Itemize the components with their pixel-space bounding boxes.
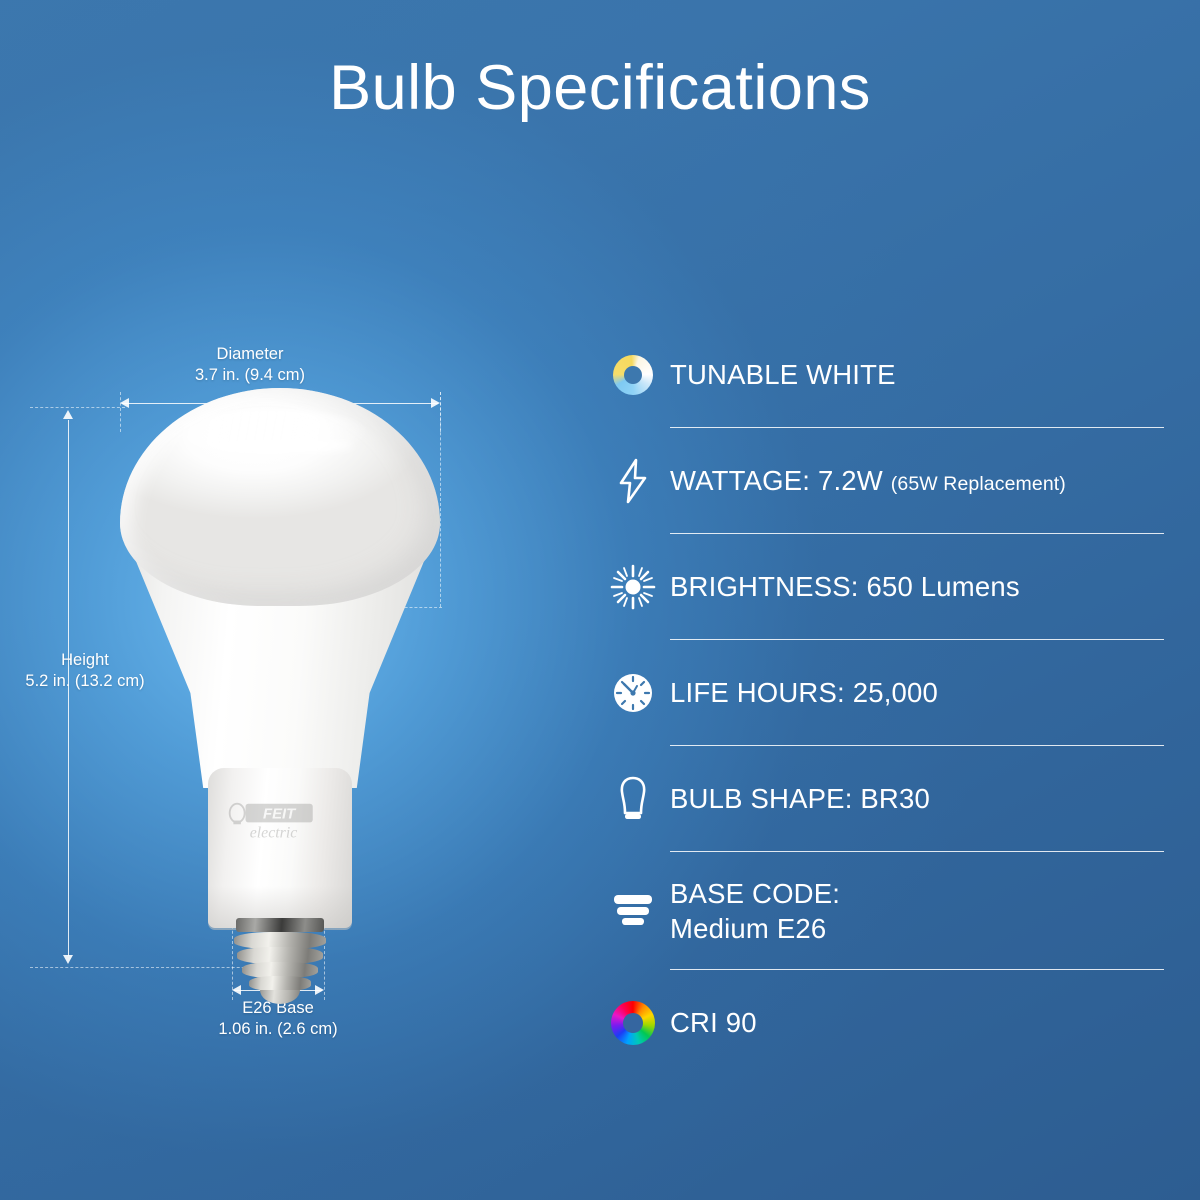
spec-row-cri: CRI 90	[596, 970, 1176, 1076]
base-thread	[249, 976, 311, 991]
lightning-bolt-icon	[596, 458, 670, 504]
spec-row-life-hours: LIFE HOURS: 25,000	[596, 640, 1176, 746]
base-tip	[260, 990, 300, 1004]
specification-graphic: Bulb Specifications Diameter 3.7 in. (9.…	[0, 0, 1200, 1200]
spec-row-brightness: BRIGHTNESS: 650 Lumens	[596, 534, 1176, 640]
spec-label: CRI 90	[670, 1005, 1176, 1040]
diameter-label-text: Diameter	[217, 345, 284, 363]
wattage-replacement: (65W Replacement)	[891, 473, 1066, 495]
br30-bulb-image: FEIT electric	[120, 388, 440, 1008]
diameter-guide-right-extend	[440, 392, 441, 607]
spec-label: BASE CODE: Medium E26	[670, 876, 1176, 946]
spec-label: TUNABLE WHITE	[670, 357, 1176, 392]
page-title: Bulb Specifications	[0, 52, 1200, 124]
spec-row-tunable-white: TUNABLE WHITE	[596, 322, 1176, 428]
base-label-value: 1.06 in. (2.6 cm)	[218, 1020, 337, 1038]
clock-icon	[596, 670, 670, 716]
svg-text:FEIT: FEIT	[263, 806, 297, 823]
height-guide-top	[30, 407, 125, 408]
diameter-label: Diameter 3.7 in. (9.4 cm)	[195, 344, 305, 386]
base-collar	[236, 918, 324, 932]
base-code-line1: BASE CODE:	[670, 878, 840, 909]
specification-list: TUNABLE WHITE WATTAGE: 7.2W (65W Replace…	[596, 322, 1176, 1076]
wattage-value: WATTAGE: 7.2W	[670, 465, 883, 496]
spec-label: BRIGHTNESS: 650 Lumens	[670, 569, 1176, 604]
screw-base-icon	[596, 891, 670, 931]
spec-row-base-code: BASE CODE: Medium E26	[596, 852, 1176, 970]
spec-label: WATTAGE: 7.2W (65W Replacement)	[670, 463, 1176, 498]
height-arrow-bar	[68, 420, 69, 956]
diameter-label-value: 3.7 in. (9.4 cm)	[195, 366, 305, 384]
tunable-white-ring-icon	[596, 355, 670, 395]
height-arrowhead-bottom	[63, 955, 73, 964]
sun-icon	[596, 564, 670, 610]
e26-screw-base	[234, 918, 326, 1004]
svg-text:electric: electric	[250, 824, 298, 841]
feit-electric-logo: FEIT electric	[225, 800, 337, 841]
spec-label: LIFE HOURS: 25,000	[670, 675, 1176, 710]
base-code-line2: Medium E26	[670, 911, 1176, 946]
height-arrowhead-top	[63, 410, 73, 419]
bulb-dome-highlight-secondary	[204, 438, 354, 454]
spec-row-bulb-shape: BULB SHAPE: BR30	[596, 746, 1176, 852]
spec-label: BULB SHAPE: BR30	[670, 781, 1176, 816]
color-wheel-icon	[596, 1001, 670, 1045]
bulb-outline-icon	[596, 775, 670, 823]
spec-row-wattage: WATTAGE: 7.2W (65W Replacement)	[596, 428, 1176, 534]
bulb-dimension-diagram: Diameter 3.7 in. (9.4 cm) Height 5.2 in.…	[0, 330, 580, 1070]
